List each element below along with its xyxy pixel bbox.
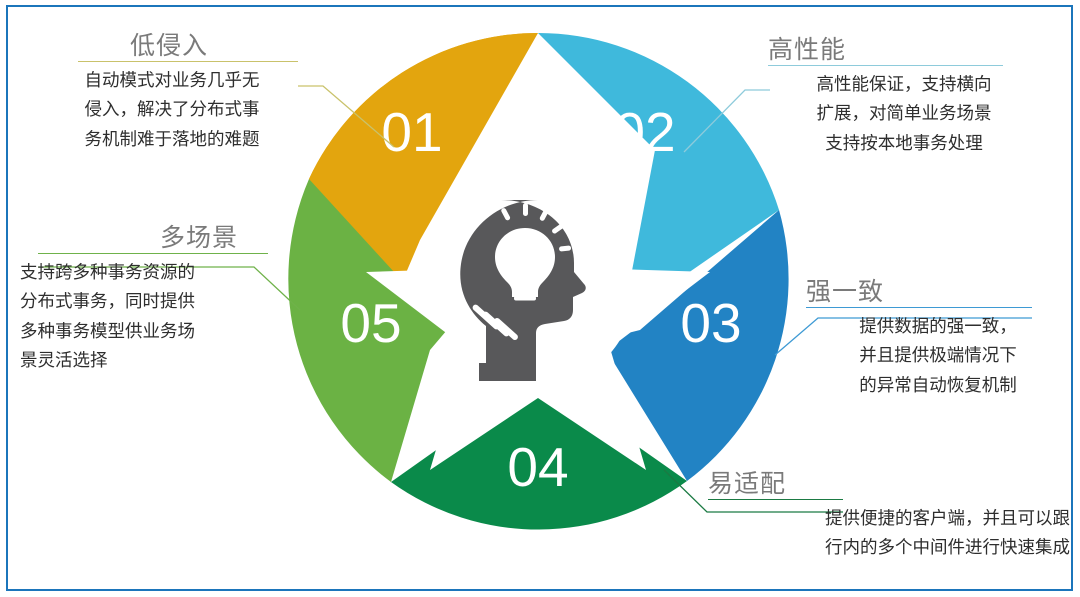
callout-05-rule — [38, 253, 268, 254]
infographic-canvas: 01 02 03 04 05 低侵入 自动模式对业务几乎无 侵入，解决了分布式事… — [0, 0, 1080, 597]
callout-05-body: 支持跨多种事务资源的 分布式事务，同时提供 多种事务模型供业务场 景灵活选择 — [20, 258, 290, 376]
callout-03-body: 提供数据的强一致， 并且提供极端情况下 的异常自动恢复机制 — [806, 312, 1070, 400]
callout-04-rule — [708, 499, 843, 500]
callout-01-title: 低侵入 — [46, 32, 298, 60]
callout-04-body: 提供便捷的客户端，并且可以跟 行内的多个中间件进行快速集成 — [700, 504, 1072, 563]
callout-03-rule — [806, 307, 1032, 308]
callout-04-title: 易适配 — [700, 470, 1072, 498]
callout-01-rule — [78, 61, 298, 62]
callout-02[interactable]: 高性能 高性能保证，支持横向 扩展，对简单业务场景 支持按本地事务处理 — [768, 36, 1040, 158]
callout-03-title: 强一致 — [806, 278, 1070, 306]
callout-02-rule — [768, 65, 1003, 66]
callout-05-title: 多场景 — [20, 224, 290, 252]
callout-01[interactable]: 低侵入 自动模式对业务几乎无 侵入，解决了分布式事 务机制难于落地的难题 — [46, 32, 298, 154]
callout-01-body: 自动模式对业务几乎无 侵入，解决了分布式事 务机制难于落地的难题 — [46, 66, 298, 154]
callout-05[interactable]: 多场景 支持跨多种事务资源的 分布式事务，同时提供 多种事务模型供业务场 景灵活… — [20, 224, 290, 376]
callout-02-body: 高性能保证，支持横向 扩展，对简单业务场景 支持按本地事务处理 — [768, 70, 1040, 158]
callout-02-title: 高性能 — [768, 36, 1040, 64]
callout-04[interactable]: 易适配 提供便捷的客户端，并且可以跟 行内的多个中间件进行快速集成 — [700, 470, 1072, 563]
callout-03[interactable]: 强一致 提供数据的强一致， 并且提供极端情况下 的异常自动恢复机制 — [806, 278, 1070, 400]
